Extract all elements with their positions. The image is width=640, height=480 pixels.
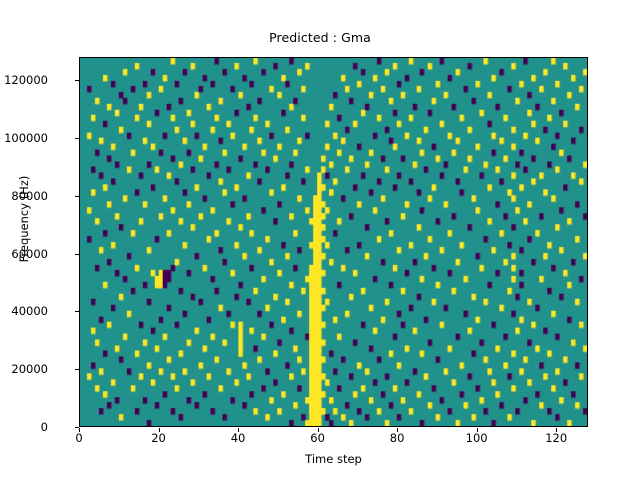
heatmap-image [80,58,587,426]
x-tick-label: 100 [447,431,507,445]
x-tick-mark [318,428,319,432]
y-tick-label: 60000 [0,247,48,261]
x-tick-label: 80 [367,431,427,445]
chart-title: Predicted : Gma [0,30,640,45]
y-tick-label: 120000 [0,73,48,87]
heatmap-axes [79,57,588,427]
x-tick-label: 0 [49,431,109,445]
x-tick-label: 120 [526,431,586,445]
x-tick-mark [556,428,557,432]
y-tick-label: 0 [0,420,48,434]
x-tick-mark [397,428,398,432]
x-tick-mark [477,428,478,432]
x-tick-label: 20 [129,431,189,445]
x-axis-label: Time step [79,452,588,466]
y-tick-label: 100000 [0,131,48,145]
x-tick-mark [159,428,160,432]
y-tick-label: 80000 [0,189,48,203]
y-tick-label: 40000 [0,304,48,318]
x-tick-mark [79,428,80,432]
matplotlib-figure: Predicted : Gma Frequency (Hz) 020000400… [0,0,640,480]
y-tick-label: 20000 [0,362,48,376]
x-tick-mark [238,428,239,432]
x-tick-label: 40 [208,431,268,445]
x-tick-label: 60 [288,431,348,445]
